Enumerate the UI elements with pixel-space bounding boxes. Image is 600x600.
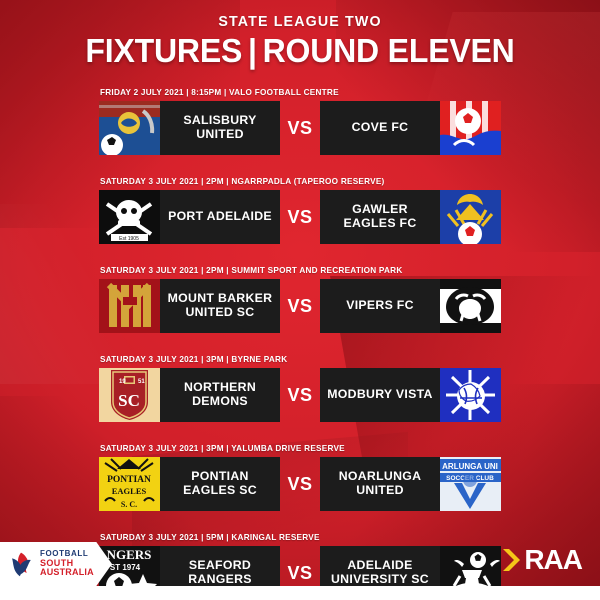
fixture-meta: SATURDAY 3 JULY 2021 | 2PM | SUMMIT SPOR… (100, 266, 501, 275)
away-team-panel: COVE FC (320, 101, 440, 155)
away-team-panel: NOARLUNGAUNITED (320, 457, 440, 511)
away-team-name: VIPERS FC (346, 299, 414, 313)
home-team-line1: NORTHERN (184, 380, 256, 394)
home-team-panel: PONTIANEAGLES SC (160, 457, 280, 511)
home-team-line2: DEMONS (192, 394, 248, 408)
away-team-line2: EAGLES FC (343, 216, 416, 230)
home-team-line2: RANGERS (188, 572, 252, 586)
svg-text:ST 1974: ST 1974 (110, 563, 141, 572)
title-fixtures: FIXTURES (85, 32, 242, 69)
svg-text:S. C.: S. C. (121, 500, 137, 509)
fixture-row: FRIDAY 2 JULY 2021 | 8:15PM | VALO FOOTB… (99, 88, 501, 155)
away-team-line2: UNIVERSITY SC (331, 572, 429, 586)
home-team-panel: SALISBURYUNITED (160, 101, 280, 155)
home-team-line1: PONTIAN (191, 469, 248, 483)
fixture-meta: SATURDAY 3 JULY 2021 | 3PM | BYRNE PARK (100, 355, 501, 364)
away-team-line1: NOARLUNGA (339, 469, 422, 483)
footer-white-bar (0, 586, 600, 600)
fsa-line-australia: AUSTRALIA (40, 568, 94, 577)
vs-separator: VS (280, 190, 320, 244)
svg-text:PONTIAN: PONTIAN (107, 475, 151, 485)
home-team-line2: UNITED SC (186, 305, 255, 319)
league-kicker: STATE LEAGUE TWO (15, 14, 585, 29)
away-team-name: ADELAIDEUNIVERSITY SC (331, 559, 429, 587)
cove-fc-crest-icon (440, 101, 501, 155)
raa-wordmark: RAA (524, 546, 582, 574)
away-team-line1: ADELAIDE (347, 558, 412, 572)
fixture-meta: FRIDAY 2 JULY 2021 | 8:15PM | VALO FOOTB… (100, 88, 501, 97)
fixture-matchup: 1951SCNORTHERNDEMONSVSMODBURY VISTA (99, 368, 501, 422)
mount-barker-united-crest-icon (99, 279, 160, 333)
port-adelaide-crest-icon: Est 1905 (99, 190, 160, 244)
salisbury-united-crest-icon (99, 101, 160, 155)
away-team-line1: VIPERS FC (346, 298, 414, 312)
svg-text:Est 1905: Est 1905 (119, 236, 139, 242)
home-team-panel: PORT ADELAIDE (160, 190, 280, 244)
vs-separator: VS (280, 368, 320, 422)
home-team-line2: UNITED (196, 127, 244, 141)
modbury-vista-crest-icon (440, 368, 501, 422)
svg-text:EAGLES: EAGLES (112, 486, 147, 496)
home-team-line1: MOUNT BARKER (168, 291, 273, 305)
away-team-name: MODBURY VISTA (327, 388, 432, 402)
raa-chevron-icon (501, 547, 521, 573)
home-team-line2: EAGLES SC (183, 483, 257, 497)
vs-separator: VS (280, 457, 320, 511)
home-team-name: SALISBURYUNITED (183, 114, 256, 142)
fixtures-graphic: STATE LEAGUE TWO FIXTURES|ROUND ELEVEN F… (0, 0, 600, 600)
vs-separator: VS (280, 279, 320, 333)
fsa-ball-icon (8, 551, 34, 577)
header: STATE LEAGUE TWO FIXTURES|ROUND ELEVEN (0, 14, 600, 67)
home-team-panel: NORTHERNDEMONS (160, 368, 280, 422)
fixtures-list: FRIDAY 2 JULY 2021 | 8:15PM | VALO FOOTB… (99, 88, 501, 600)
home-team-panel: MOUNT BARKERUNITED SC (160, 279, 280, 333)
fsa-wordmark: FOOTBALL SOUTH AUSTRALIA (40, 550, 94, 577)
home-team-name: MOUNT BARKERUNITED SC (168, 292, 273, 320)
fixture-matchup: Est 1905PORT ADELAIDEVSGAWLEREAGLES FC (99, 190, 501, 244)
away-team-line1: MODBURY VISTA (327, 387, 432, 401)
svg-text:NGERS: NGERS (107, 547, 152, 562)
away-team-line1: COVE FC (352, 120, 409, 134)
away-team-name: GAWLEREAGLES FC (343, 203, 416, 231)
away-team-panel: GAWLEREAGLES FC (320, 190, 440, 244)
home-team-name: NORTHERNDEMONS (184, 381, 256, 409)
home-team-line1: PORT ADELAIDE (168, 209, 272, 223)
title-divider: | (242, 34, 262, 67)
raa-logo: RAA (501, 546, 582, 574)
football-south-australia-logo: FOOTBALL SOUTH AUSTRALIA (0, 542, 112, 586)
away-team-line2: UNITED (356, 483, 404, 497)
home-team-name: SEAFORDRANGERS (188, 559, 252, 587)
away-team-line1: GAWLER (352, 202, 408, 216)
fixture-row: SATURDAY 3 JULY 2021 | 3PM | BYRNE PARK1… (99, 355, 501, 422)
home-team-name: PONTIANEAGLES SC (183, 470, 257, 498)
pontian-eagles-crest-icon: PONTIANEAGLESS. C. (99, 457, 160, 511)
fixture-row: SATURDAY 3 JULY 2021 | 2PM | NGARRPADLA … (99, 177, 501, 244)
noarlunga-united-crest-icon: ARLUNGA UNISOCCER CLUB (440, 457, 501, 511)
away-team-name: NOARLUNGAUNITED (339, 470, 422, 498)
svg-text:SC: SC (118, 391, 140, 410)
fixture-row: SATURDAY 3 JULY 2021 | 2PM | SUMMIT SPOR… (99, 266, 501, 333)
northern-demons-crest-icon: 1951SC (99, 368, 160, 422)
away-team-panel: VIPERS FC (320, 279, 440, 333)
vipers-fc-crest-icon (440, 279, 501, 333)
fixture-row: SATURDAY 3 JULY 2021 | 3PM | YALUMBA DRI… (99, 444, 501, 511)
away-team-panel: MODBURY VISTA (320, 368, 440, 422)
title-round: ROUND ELEVEN (263, 32, 515, 69)
fixture-matchup: PONTIANEAGLESS. C.PONTIANEAGLES SCVSNOAR… (99, 457, 501, 511)
fixture-meta: SATURDAY 3 JULY 2021 | 3PM | YALUMBA DRI… (100, 444, 501, 453)
home-team-name: PORT ADELAIDE (168, 210, 272, 224)
gawler-eagles-crest-icon (440, 190, 501, 244)
svg-text:19: 19 (119, 379, 126, 385)
home-team-line1: SALISBURY (183, 113, 256, 127)
home-team-line1: SEAFORD (189, 558, 251, 572)
fixture-meta: SATURDAY 3 JULY 2021 | 5PM | KARINGAL RE… (100, 533, 501, 542)
page-title: FIXTURES|ROUND ELEVEN (9, 34, 591, 67)
fixture-matchup: MOUNT BARKERUNITED SCVSVIPERS FC (99, 279, 501, 333)
svg-text:51: 51 (138, 379, 145, 385)
fixture-meta: SATURDAY 3 JULY 2021 | 2PM | NGARRPADLA … (100, 177, 501, 186)
svg-text:ARLUNGA UNI: ARLUNGA UNI (442, 462, 498, 471)
vs-separator: VS (280, 101, 320, 155)
fixture-matchup: SALISBURYUNITEDVSCOVE FC (99, 101, 501, 155)
away-team-name: COVE FC (352, 121, 409, 135)
